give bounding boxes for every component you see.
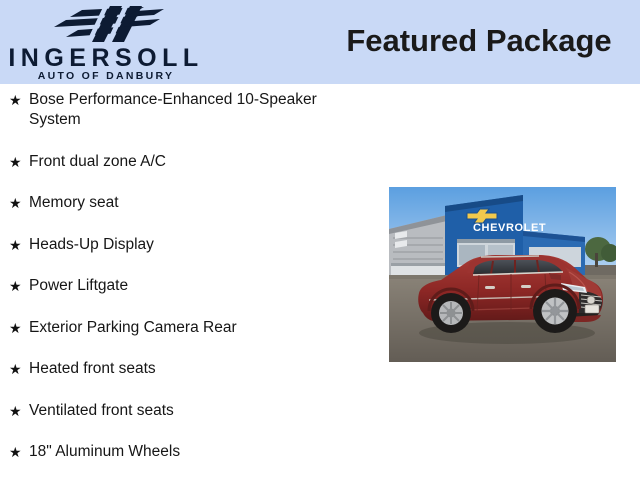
star-icon: ★ xyxy=(9,235,22,255)
list-item-label: 18" Aluminum Wheels xyxy=(29,442,319,462)
list-item-label: Front dual zone A/C xyxy=(29,152,319,172)
star-icon: ★ xyxy=(9,318,22,338)
star-icon: ★ xyxy=(9,152,22,172)
list-item-label: Bose Performance-Enhanced 10-Speaker Sys… xyxy=(29,90,319,130)
list-item: ★ Memory seat xyxy=(0,193,370,213)
list-item: ★ Exterior Parking Camera Rear xyxy=(0,318,370,338)
brand-name: INGERSOLL xyxy=(6,46,206,71)
list-item: ★ Heads-Up Display xyxy=(0,235,370,255)
list-item: ★ Front dual zone A/C xyxy=(0,152,370,172)
list-item: ★ Bose Performance-Enhanced 10-Speaker S… xyxy=(0,90,370,130)
list-item-label: Exterior Parking Camera Rear xyxy=(29,318,319,338)
list-item-label: Heated front seats xyxy=(29,359,319,379)
feature-list: ★ Bose Performance-Enhanced 10-Speaker S… xyxy=(0,90,370,484)
list-item-label: Ventilated front seats xyxy=(29,401,319,421)
brand-tagline: AUTO OF DANBURY xyxy=(6,71,206,82)
ingersoll-wing-emblem xyxy=(52,4,170,44)
star-icon: ★ xyxy=(9,90,22,110)
page-title: Featured Package xyxy=(330,24,628,58)
list-item-label: Power Liftgate xyxy=(29,276,319,296)
page-header: INGERSOLL AUTO OF DANBURY Featured Packa… xyxy=(0,0,640,84)
star-icon: ★ xyxy=(9,401,22,421)
list-item-label: Memory seat xyxy=(29,193,319,213)
star-icon: ★ xyxy=(9,442,22,462)
list-item: ★ Ventilated front seats xyxy=(0,401,370,421)
star-icon: ★ xyxy=(9,359,22,379)
star-icon: ★ xyxy=(9,276,22,296)
list-item: ★ Power Liftgate xyxy=(0,276,370,296)
dealer-logo: INGERSOLL AUTO OF DANBURY xyxy=(0,2,210,84)
list-item: ★ 18" Aluminum Wheels xyxy=(0,442,370,462)
list-item: ★ Heated front seats xyxy=(0,359,370,379)
list-item-label: Heads-Up Display xyxy=(29,235,319,255)
star-icon: ★ xyxy=(9,193,22,213)
vehicle-photo: CHEVROLET xyxy=(389,187,616,362)
